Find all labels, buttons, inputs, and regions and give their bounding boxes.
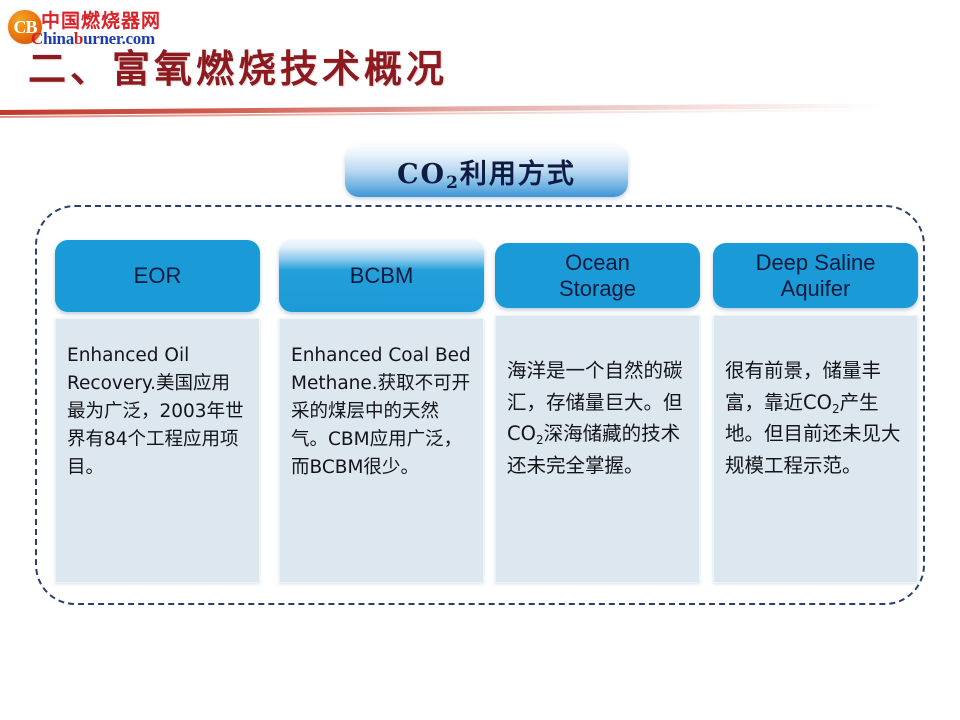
column-body-text: Enhanced Coal Bed Methane.获取不可开采的煤层中的天然气… [291, 342, 472, 483]
logo-domain-hina: hina [43, 29, 74, 48]
column-header-ocean-storage: Ocean Storage [495, 243, 700, 308]
body-subscript: 2 [832, 402, 840, 416]
column-body-bcbm: Enhanced Coal Bed Methane.获取不可开采的煤层中的天然气… [279, 318, 484, 583]
column-body-ocean-storage: 海洋是一个自然的碳汇，存储量巨大。但CO2深海储藏的技术还未完全掌握。 [495, 315, 700, 583]
column-body-deep-saline-aquifer: 很有前景，储量丰富，靠近CO2产生地。但目前还未见大规模工程示范。 [713, 315, 918, 583]
column-body-text: 很有前景，储量丰富，靠近CO2产生地。但目前还未见大规模工程示范。 [725, 355, 906, 481]
column-bcbm: BCBM Enhanced Coal Bed Methane.获取不可开采的煤层… [279, 235, 484, 585]
column-header-bcbm: BCBM [279, 240, 484, 312]
co2-utilization-banner: CO2利用方式 [345, 145, 628, 197]
title-divider [0, 104, 960, 130]
site-watermark-logo: 中国燃烧器网 Chinaburner.com [8, 4, 208, 52]
logo-domain-rest: urner.com [83, 29, 155, 48]
column-header-label: EOR [134, 263, 182, 289]
logo-domain-text: Chinaburner.com [31, 29, 155, 49]
column-header-label: Ocean Storage [559, 250, 636, 301]
column-deep-saline-aquifer: Deep Saline Aquifer 很有前景，储量丰富，靠近CO2产生地。但… [713, 235, 918, 585]
column-body-text: 海洋是一个自然的碳汇，存储量巨大。但CO2深海储藏的技术还未完全掌握。 [507, 355, 688, 481]
column-header-label: Deep Saline Aquifer [756, 250, 876, 301]
banner-subscript: 2 [446, 173, 460, 193]
banner-title-text: CO2利用方式 [397, 152, 576, 191]
body-subscript: 2 [536, 433, 544, 447]
column-ocean-storage: Ocean Storage 海洋是一个自然的碳汇，存储量巨大。但CO2深海储藏的… [495, 235, 700, 585]
banner-text-before: CO [397, 159, 446, 190]
column-body-eor: Enhanced Oil Recovery.美国应用最为广泛，2003年世界有8… [55, 318, 260, 583]
column-body-text: Enhanced Oil Recovery.美国应用最为广泛，2003年世界有8… [67, 342, 248, 483]
banner-text-after: 利用方式 [460, 159, 576, 190]
logo-domain-b: b [74, 29, 83, 48]
column-header-eor: EOR [55, 240, 260, 312]
column-header-label: BCBM [350, 263, 414, 289]
logo-domain-c: C [31, 29, 43, 48]
column-header-deep-saline-aquifer: Deep Saline Aquifer [713, 243, 918, 308]
column-eor: EOR Enhanced Oil Recovery.美国应用最为广泛，2003年… [55, 235, 260, 585]
utilization-columns: EOR Enhanced Oil Recovery.美国应用最为广泛，2003年… [55, 235, 915, 585]
